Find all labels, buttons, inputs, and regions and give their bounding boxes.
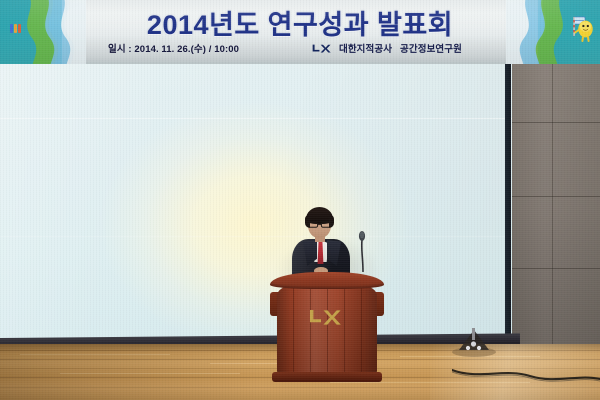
- mic-stand-base: [448, 328, 500, 358]
- conference-photo: 2014년도 연구성과 발표회 일시 : 2014. 11. 26.(수) / …: [0, 0, 600, 400]
- event-banner: 2014년도 연구성과 발표회 일시 : 2014. 11. 26.(수) / …: [0, 0, 600, 64]
- podium-desktop: [270, 272, 384, 289]
- organizer-name: 대한지적공사: [339, 41, 392, 55]
- podium: [270, 272, 384, 384]
- organizer-division: 공간정보연구원: [400, 41, 462, 55]
- event-title: 2014년도 연구성과 발표회: [62, 3, 538, 42]
- lx-logo-podium: [308, 308, 342, 327]
- glasses-icon: [308, 222, 331, 228]
- podium-body: [277, 286, 377, 374]
- lx-logo-icon: [312, 43, 334, 54]
- audio-cable: [452, 366, 600, 388]
- podium-base: [272, 372, 382, 382]
- floor-shadow: [0, 344, 260, 400]
- organizer-block: 대한지적공사 공간정보연구원: [312, 41, 462, 55]
- mascot-icon: [566, 12, 596, 46]
- event-datetime: 일시 : 2014. 11. 26.(수) / 10:00: [108, 41, 239, 55]
- gooseneck-microphone: [354, 228, 370, 272]
